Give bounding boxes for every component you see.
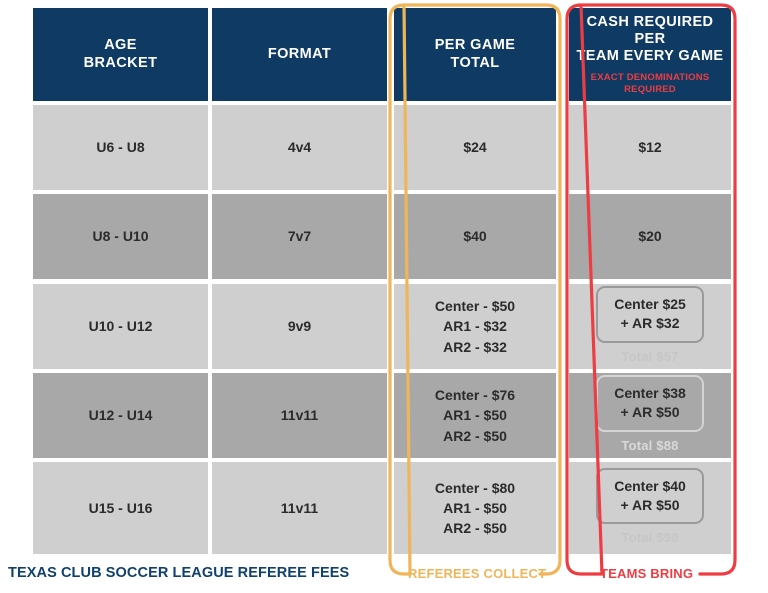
cash-box-line: + AR $50 <box>614 496 686 515</box>
cell-per-game-line: AR1 - $32 <box>443 316 507 336</box>
cell-format: 4v4 <box>288 137 311 157</box>
cash-total-label: Total $57 <box>621 348 678 367</box>
table-row-age: U8 - U10 <box>33 194 208 279</box>
cash-amount-box: Center $25 + AR $32 <box>596 286 704 343</box>
table-row-cash: Center $38 + AR $50 Total $88 <box>569 373 731 458</box>
cell-per-game-line: Center - $76 <box>435 385 515 405</box>
header-cash-sub2: REQUIRED <box>591 84 710 95</box>
cell-per-game-line: AR2 - $50 <box>443 518 507 538</box>
cell-per-game-line: $24 <box>463 137 486 157</box>
table-row-cash: Center $25 + AR $32 Total $57 <box>569 284 731 369</box>
table-row-per-game: Center - $50 AR1 - $32 AR2 - $32 <box>394 284 556 369</box>
header-per-game-line1: PER GAME <box>435 37 516 54</box>
cell-age: U8 - U10 <box>92 226 148 246</box>
referee-fee-table: AGE BRACKET FORMAT PER GAME TOTAL CASH R… <box>0 0 768 593</box>
header-age-bracket-line1: AGE <box>104 37 137 54</box>
cash-total-label: Total $90 <box>621 529 678 548</box>
cell-format: 7v7 <box>288 226 311 246</box>
cell-format: 9v9 <box>288 316 311 336</box>
cell-age: U15 - U16 <box>89 498 153 518</box>
cell-per-game-line: AR1 - $50 <box>443 405 507 425</box>
cell-per-game-line: AR1 - $50 <box>443 498 507 518</box>
table-row-per-game: Center - $76 AR1 - $50 AR2 - $50 <box>394 373 556 458</box>
cash-amount-box: Center $40 + AR $50 <box>596 468 704 525</box>
header-cash-line1: CASH REQUIRED PER <box>569 14 731 48</box>
cash-box-line: Center $25 <box>614 295 686 314</box>
header-per-game-line2: TOTAL <box>451 55 500 72</box>
cell-per-game-line: AR2 - $50 <box>443 426 507 446</box>
table-row-age: U10 - U12 <box>33 284 208 369</box>
header-age-bracket-line2: BRACKET <box>84 55 158 72</box>
table-row-format: 9v9 <box>212 284 387 369</box>
cell-age: U6 - U8 <box>96 137 144 157</box>
table-row-age: U6 - U8 <box>33 105 208 190</box>
brand-label: TEXAS CLUB SOCCER LEAGUE REFEREE FEES <box>8 565 349 581</box>
table-row-cash: Center $40 + AR $50 Total $90 <box>569 462 731 554</box>
cell-cash-simple: $20 <box>638 226 661 246</box>
header-cash-required: CASH REQUIRED PER TEAM EVERY GAME EXACT … <box>569 8 731 101</box>
cell-format: 11v11 <box>281 405 318 425</box>
table-row-per-game: $24 <box>394 105 556 190</box>
table-row-per-game: $40 <box>394 194 556 279</box>
header-format-line1: FORMAT <box>268 46 331 63</box>
cash-amount-box: Center $38 + AR $50 <box>596 375 704 432</box>
table-row-cash: $20 <box>569 194 731 279</box>
header-format: FORMAT <box>212 8 387 101</box>
cell-per-game-line: Center - $50 <box>435 296 515 316</box>
table-row-age: U15 - U16 <box>33 462 208 554</box>
header-age-bracket: AGE BRACKET <box>33 8 208 101</box>
cell-per-game-line: Center - $80 <box>435 478 515 498</box>
header-cash-line2: TEAM EVERY GAME <box>577 48 724 65</box>
cell-format: 11v11 <box>281 498 318 518</box>
cell-cash-simple: $12 <box>638 137 661 157</box>
table-row-format: 7v7 <box>212 194 387 279</box>
cell-age: U10 - U12 <box>89 316 153 336</box>
teams-bring-label: TEAMS BRING <box>600 566 693 581</box>
table-row-cash: $12 <box>569 105 731 190</box>
table-row-format: 11v11 <box>212 373 387 458</box>
header-per-game-total: PER GAME TOTAL <box>394 8 556 101</box>
cash-box-line: Center $40 <box>614 477 686 496</box>
table-row-format: 4v4 <box>212 105 387 190</box>
cash-box-line: + AR $50 <box>614 403 686 422</box>
table-row-age: U12 - U14 <box>33 373 208 458</box>
cell-per-game-line: $40 <box>463 226 486 246</box>
cash-box-line: Center $38 <box>614 384 686 403</box>
table-row-format: 11v11 <box>212 462 387 554</box>
cash-box-line: + AR $32 <box>614 314 686 333</box>
table-row-per-game: Center - $80 AR1 - $50 AR2 - $50 <box>394 462 556 554</box>
cell-per-game-line: AR2 - $32 <box>443 337 507 357</box>
referees-collect-label: REFEREES COLLECT <box>408 566 546 581</box>
header-cash-subtext: EXACT DENOMINATIONS REQUIRED <box>591 72 710 95</box>
header-cash-sub1: EXACT DENOMINATIONS <box>591 72 710 83</box>
cash-total-label: Total $88 <box>621 437 678 456</box>
cell-age: U12 - U14 <box>89 405 153 425</box>
